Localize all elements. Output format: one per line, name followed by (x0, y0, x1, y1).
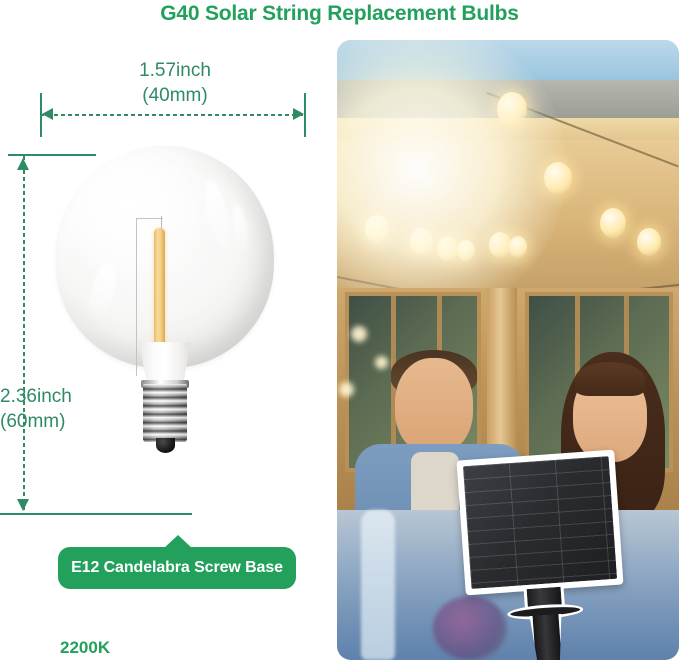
photo-flowers (433, 596, 507, 660)
filament-cross-wire (136, 218, 163, 219)
arrow-left-icon (42, 108, 53, 120)
height-dimension-line (23, 156, 25, 511)
width-dimension-inch: 1.57inch (139, 60, 211, 81)
page-title: G40 Solar String Replacement Bulbs (0, 2, 679, 26)
arrow-right-icon (293, 108, 304, 120)
photo-bokeh-light (375, 356, 388, 369)
photo-person-left-face (395, 358, 473, 454)
base-type-badge-label: E12 Candelabra Screw Base (71, 559, 283, 577)
width-dimension-label: 1.57inch (40mm) (60, 58, 290, 108)
filament-support-wire (136, 218, 137, 376)
solar-panel-product (456, 450, 623, 596)
bulb-dimension-diagram: 1.57inch (40mm) 2.36inch (60mm) (0, 40, 330, 660)
color-temperature-value: 2200K (60, 638, 110, 658)
width-dimension-mm: (40mm) (142, 85, 207, 106)
arrow-up-icon (17, 158, 29, 170)
bulb-illustration (48, 146, 282, 546)
width-dimension-line (40, 114, 305, 116)
photo-bottle (361, 510, 395, 660)
base-contact-tip (156, 438, 175, 453)
base-type-badge: E12 Candelabra Screw Base (58, 547, 296, 589)
solar-panel-frame (456, 450, 623, 596)
string-light-bulb (637, 228, 661, 256)
photo-person-right-fringe (575, 362, 645, 396)
bulb-globe (56, 146, 274, 368)
solar-panel-cells (463, 456, 617, 589)
photo-bokeh-light (339, 382, 354, 397)
lifestyle-photo (337, 40, 679, 660)
string-light-bulb (600, 208, 626, 238)
product-infographic: G40 Solar String Replacement Bulbs 1.57i… (0, 0, 679, 660)
e12-screw-base (143, 384, 187, 442)
photo-bokeh-light (351, 326, 367, 342)
arrow-down-icon (17, 499, 29, 511)
